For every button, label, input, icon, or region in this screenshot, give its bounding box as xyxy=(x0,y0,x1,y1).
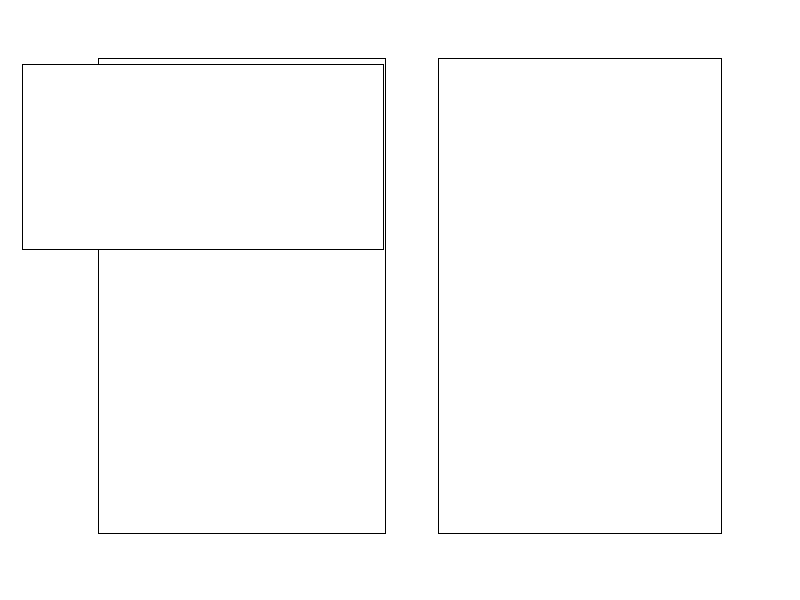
legend xyxy=(22,64,384,250)
histogram-data-region xyxy=(439,59,721,533)
figure-canvas xyxy=(0,0,800,600)
